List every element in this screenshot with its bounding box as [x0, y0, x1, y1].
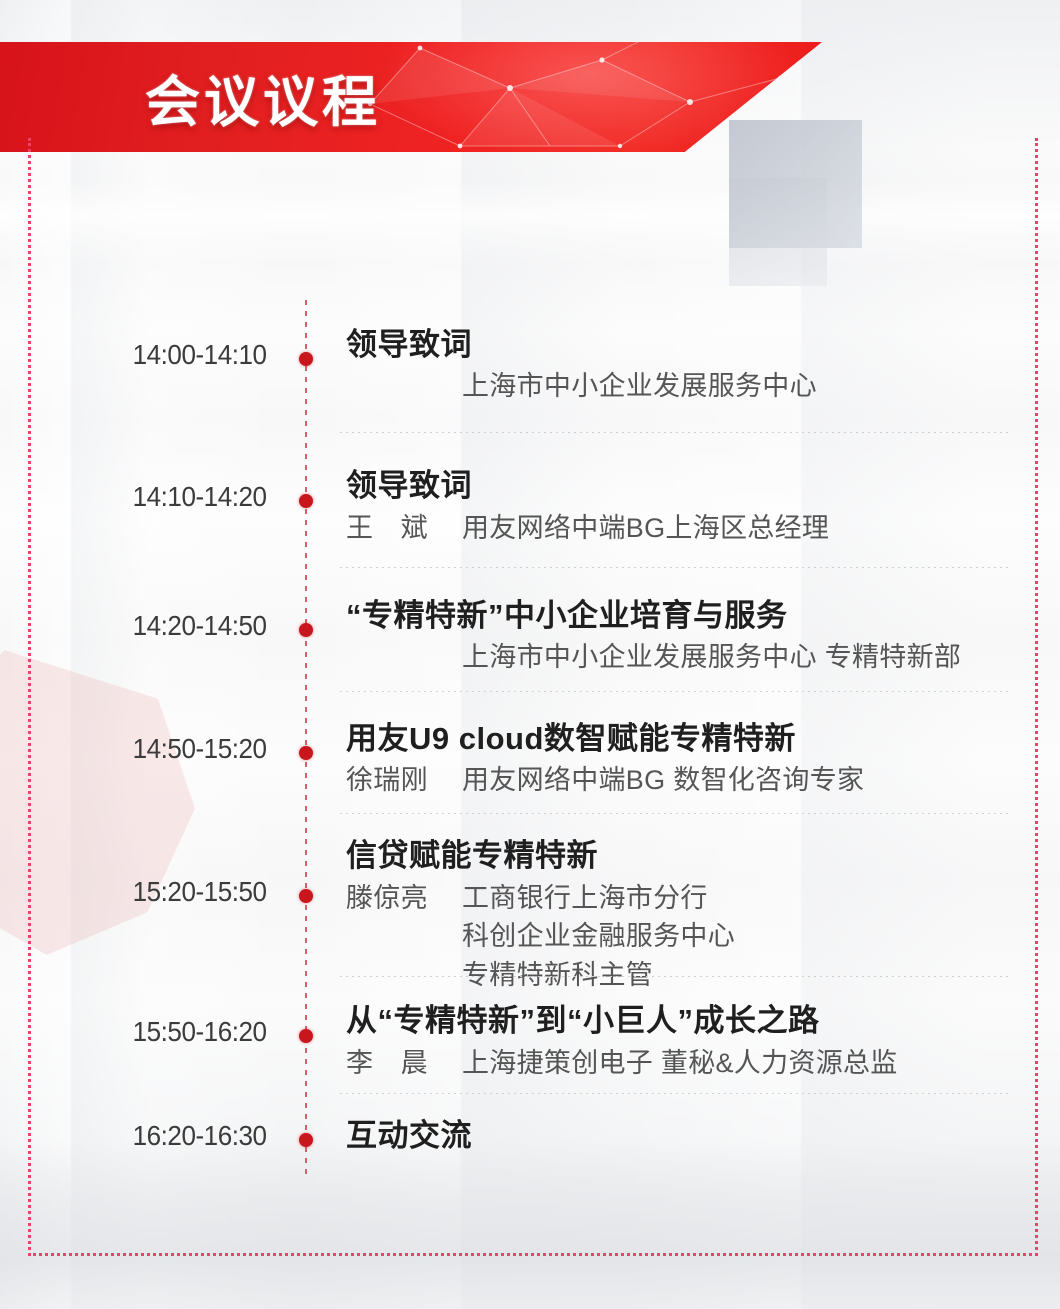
grey-corner-block [729, 120, 862, 248]
agenda-row[interactable]: 14:10-14:20领导致词王 斌用友网络中端BG上海区总经理 [0, 433, 1060, 568]
session-speaker: 滕倞亮 [346, 879, 462, 917]
session-organization: 上海捷策创电子 董秘&人力资源总监 [462, 1044, 898, 1082]
timeline-dot-icon [299, 494, 313, 508]
session-organization: 上海市中小企业发展服务中心 [462, 367, 817, 405]
timeline-dot-icon [299, 623, 313, 637]
session-organization: 工商银行上海市分行 [462, 879, 708, 917]
agenda-row[interactable]: 15:20-15:50信贷赋能专精特新滕倞亮工商银行上海市分行科创企业金融服务中… [0, 814, 1060, 977]
agenda-row[interactable]: 14:00-14:10领导致词上海市中小企业发展服务中心 [0, 285, 1060, 433]
timeline-dot-icon [299, 1133, 313, 1147]
network-pattern-icon [0, 42, 822, 152]
session-title: 领导致词 [346, 325, 1012, 366]
session-detail-line: 滕倞亮工商银行上海市分行 [346, 879, 1012, 917]
session-time: 16:20-16:30 [21, 1094, 300, 1152]
session-speaker [346, 638, 462, 676]
session-content: 信贷赋能专精特新滕倞亮工商银行上海市分行科创企业金融服务中心专精特新科主管 [300, 814, 1060, 994]
session-time: 15:50-16:20 [21, 977, 300, 1048]
session-content: 从“专精特新”到“小巨人”成长之路李 晨上海捷策创电子 董秘&人力资源总监 [300, 977, 1060, 1082]
timeline-dot-icon [299, 1029, 313, 1043]
session-content: 领导致词王 斌用友网络中端BG上海区总经理 [300, 433, 1060, 547]
session-organization: 上海市中小企业发展服务中心 专精特新部 [462, 638, 961, 676]
session-speaker [346, 367, 462, 405]
session-content: 用友U9 cloud数智赋能专精特新徐瑞刚用友网络中端BG 数智化咨询专家 [300, 692, 1060, 800]
session-detail-lines: 上海市中小企业发展服务中心 专精特新部 [346, 638, 1012, 676]
agenda-row[interactable]: 14:20-14:50“专精特新”中小企业培育与服务上海市中小企业发展服务中心 … [0, 568, 1060, 692]
session-detail-line: 上海市中小企业发展服务中心 [346, 367, 1012, 405]
agenda-row[interactable]: 16:20-16:30互动交流 [0, 1094, 1060, 1186]
timeline-dot-icon [299, 889, 313, 903]
header-banner: 会议议程 [0, 42, 822, 152]
session-detail-line: 科创企业金融服务中心 [346, 917, 1012, 955]
session-detail-line: 李 晨上海捷策创电子 董秘&人力资源总监 [346, 1044, 1012, 1082]
session-title: 互动交流 [346, 1116, 1012, 1157]
grey-corner-block-secondary [729, 178, 827, 286]
session-speaker: 李 晨 [346, 1044, 462, 1082]
session-title: 从“专精特新”到“小巨人”成长之路 [346, 1001, 1012, 1042]
session-title: “专精特新”中小企业培育与服务 [346, 596, 1012, 637]
agenda-poster: 会议议程 14:00-14:10领导致词上海市中小企业发展服务中心14:10-1… [0, 0, 1060, 1309]
banner-title: 会议议程 [145, 57, 381, 137]
session-detail-lines: 徐瑞刚用友网络中端BG 数智化咨询专家 [346, 761, 1012, 799]
session-detail-lines: 王 斌用友网络中端BG上海区总经理 [346, 509, 1012, 547]
session-speaker: 王 斌 [346, 509, 462, 547]
session-title: 领导致词 [346, 466, 1012, 507]
session-title: 用友U9 cloud数智赋能专精特新 [346, 719, 1012, 760]
session-speaker: 徐瑞刚 [346, 761, 462, 799]
agenda-list: 14:00-14:10领导致词上海市中小企业发展服务中心14:10-14:20领… [0, 285, 1060, 1186]
agenda-row[interactable]: 14:50-15:20用友U9 cloud数智赋能专精特新徐瑞刚用友网络中端BG… [0, 692, 1060, 814]
session-time: 14:50-15:20 [21, 692, 300, 765]
session-detail-line: 王 斌用友网络中端BG上海区总经理 [346, 509, 1012, 547]
session-title: 信贷赋能专精特新 [346, 836, 1012, 877]
session-detail-line: 上海市中小企业发展服务中心 专精特新部 [346, 638, 1012, 676]
session-detail-lines: 上海市中小企业发展服务中心 [346, 367, 1012, 405]
session-time: 14:10-14:20 [21, 433, 300, 513]
session-content: 领导致词上海市中小企业发展服务中心 [300, 285, 1060, 406]
timeline-dot-icon [299, 352, 313, 366]
session-organization: 用友网络中端BG上海区总经理 [462, 509, 829, 547]
session-organization: 科创企业金融服务中心 [462, 917, 735, 955]
session-time: 14:00-14:10 [21, 285, 300, 371]
session-content: “专精特新”中小企业培育与服务上海市中小企业发展服务中心 专精特新部 [300, 568, 1060, 677]
session-detail-lines: 李 晨上海捷策创电子 董秘&人力资源总监 [346, 1044, 1012, 1082]
session-speaker [346, 917, 462, 955]
agenda-row[interactable]: 15:50-16:20从“专精特新”到“小巨人”成长之路李 晨上海捷策创电子 董… [0, 977, 1060, 1094]
timeline-dot-icon [299, 746, 313, 760]
session-content: 互动交流 [300, 1094, 1060, 1157]
session-organization: 用友网络中端BG 数智化咨询专家 [462, 761, 864, 799]
session-time: 15:20-15:50 [21, 814, 300, 908]
session-time: 14:20-14:50 [21, 568, 300, 642]
session-detail-line: 徐瑞刚用友网络中端BG 数智化咨询专家 [346, 761, 1012, 799]
